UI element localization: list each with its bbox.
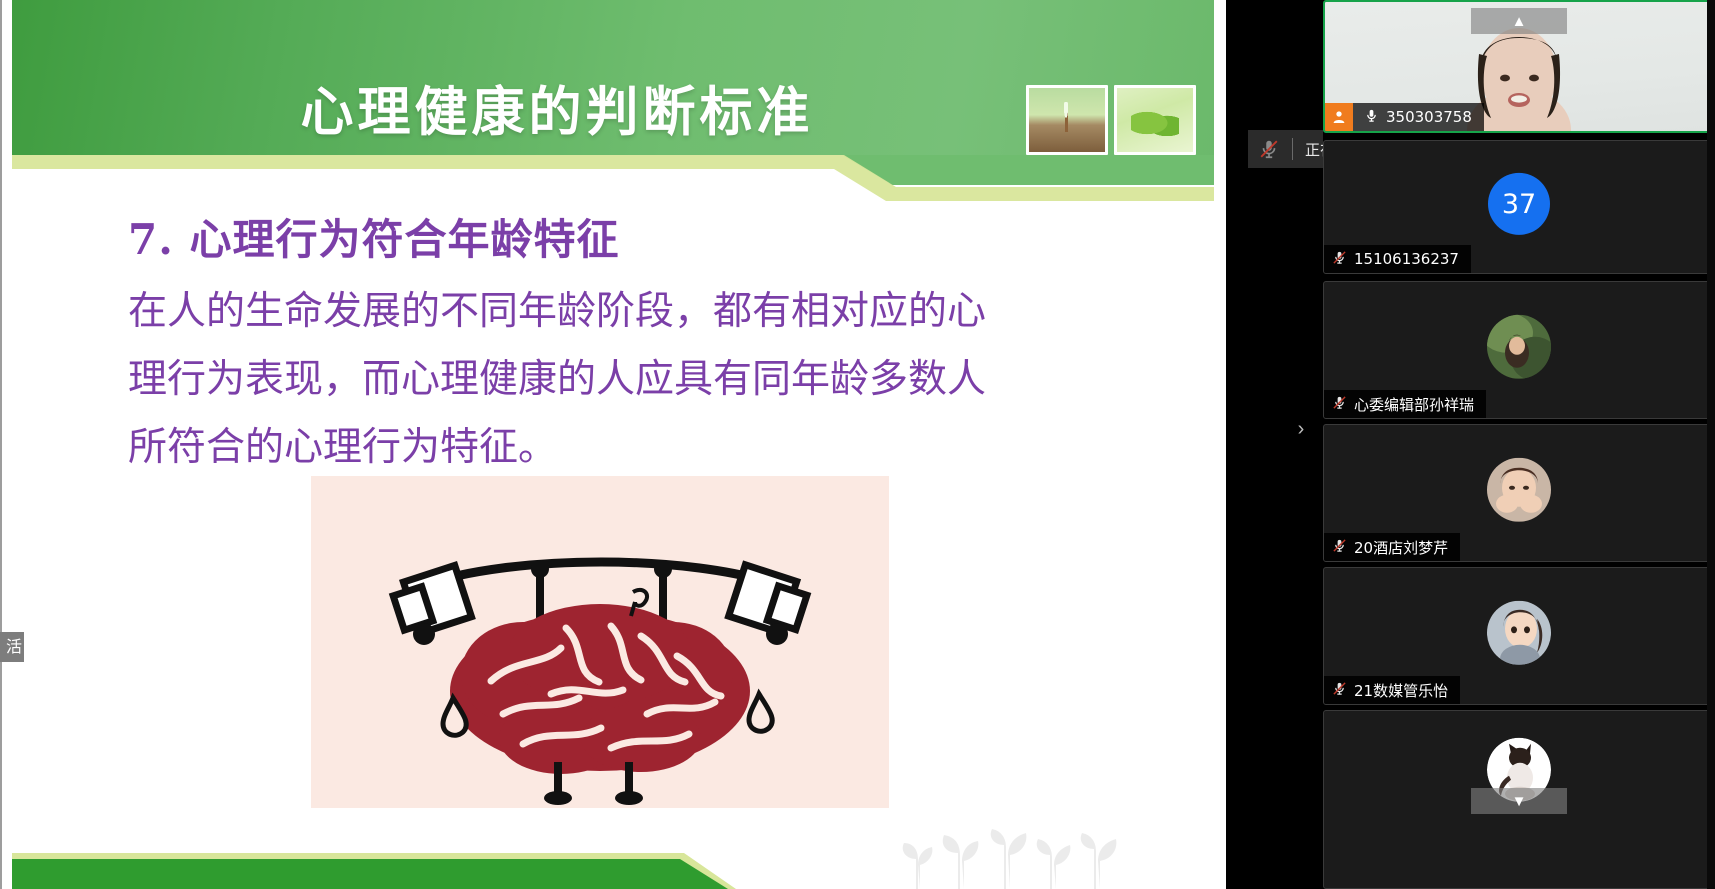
- filmstrip-scroll-rail[interactable]: [1707, 0, 1715, 889]
- participant-tile[interactable]: 21数媒管乐怡: [1323, 567, 1715, 705]
- filmstrip-scroll-down-button[interactable]: ▼: [1471, 788, 1567, 814]
- slide-left-border: [0, 0, 2, 889]
- chevron-right-icon: ›: [1298, 418, 1305, 441]
- brain-lifting-barbell-illustration: [311, 476, 889, 808]
- mic-on-icon: [1364, 107, 1379, 128]
- participant-tile[interactable]: 心委编辑部孙祥瑞: [1323, 281, 1715, 419]
- avatar-initials: 37: [1502, 188, 1536, 219]
- sprout-in-soil-photo: [1026, 85, 1108, 155]
- avatar: [1487, 315, 1551, 379]
- slide-footer-band: [12, 843, 1214, 889]
- participant-namebar: 21数媒管乐怡: [1324, 676, 1460, 704]
- participant-name: 20酒店刘梦芹: [1354, 537, 1448, 558]
- slide-header-images: [1026, 85, 1196, 155]
- slide-header-angled-edge: [12, 155, 1214, 203]
- avatar: 37: [1488, 173, 1550, 235]
- mic-muted-icon: [1332, 394, 1347, 415]
- participant-tile[interactable]: 20酒店刘梦芹: [1323, 424, 1715, 562]
- green-leaves-photo: [1114, 85, 1196, 155]
- chevron-up-icon: ▲: [1512, 13, 1527, 30]
- filmstrip-scroll-up-button[interactable]: ▲: [1471, 8, 1567, 34]
- slide-canvas: 心理健康的判断标准 7. 心理行为符合年龄特征 在人的生命发展的不同年龄阶段，都…: [12, 0, 1226, 889]
- avatar: [1487, 601, 1551, 665]
- participant-tile[interactable]: ▼: [1323, 710, 1715, 889]
- slide-body-text: 在人的生命发展的不同年龄阶段，都有相对应的心理行为表现，而心理健康的人应具有同年…: [128, 278, 1008, 482]
- toast-divider: [1292, 138, 1293, 160]
- meeting-screen-share-window: 心理健康的判断标准 7. 心理行为符合年龄特征 在人的生命发展的不同年龄阶段，都…: [0, 0, 1715, 889]
- participant-tile[interactable]: 37 15106136237: [1323, 140, 1715, 274]
- participant-namebar: 20酒店刘梦芹: [1324, 533, 1460, 561]
- participant-namebar: 15106136237: [1324, 245, 1471, 273]
- slide-title: 心理健康的判断标准: [12, 70, 1102, 146]
- participant-name: 21数媒管乐怡: [1354, 680, 1448, 701]
- person-icon: [1325, 103, 1353, 131]
- participant-name: 350303758: [1386, 108, 1472, 126]
- participant-name: 15106136237: [1354, 250, 1459, 268]
- mic-muted-icon: [1332, 249, 1347, 270]
- mic-muted-icon: [1332, 680, 1347, 701]
- shared-slide-area: 心理健康的判断标准 7. 心理行为符合年龄特征 在人的生命发展的不同年龄阶段，都…: [0, 0, 1226, 889]
- participant-namebar: 心委编辑部孙祥瑞: [1324, 390, 1486, 418]
- participant-namebar: 350303758: [1325, 103, 1484, 131]
- participant-name: 心委编辑部孙祥瑞: [1354, 394, 1474, 415]
- panel-collapse-button[interactable]: ›: [1293, 408, 1309, 450]
- avatar: [1487, 458, 1551, 522]
- participant-filmstrip[interactable]: ▲ 350303758: [1323, 0, 1715, 889]
- mic-muted-icon: [1332, 537, 1347, 558]
- chevron-down-icon: ▼: [1512, 793, 1527, 810]
- slide-heading: 7. 心理行为符合年龄特征: [128, 206, 619, 267]
- edge-tab-label[interactable]: 活: [0, 632, 24, 662]
- participant-tile-active-speaker[interactable]: ▲ 350303758: [1323, 0, 1715, 133]
- mic-muted-icon: [1258, 138, 1280, 160]
